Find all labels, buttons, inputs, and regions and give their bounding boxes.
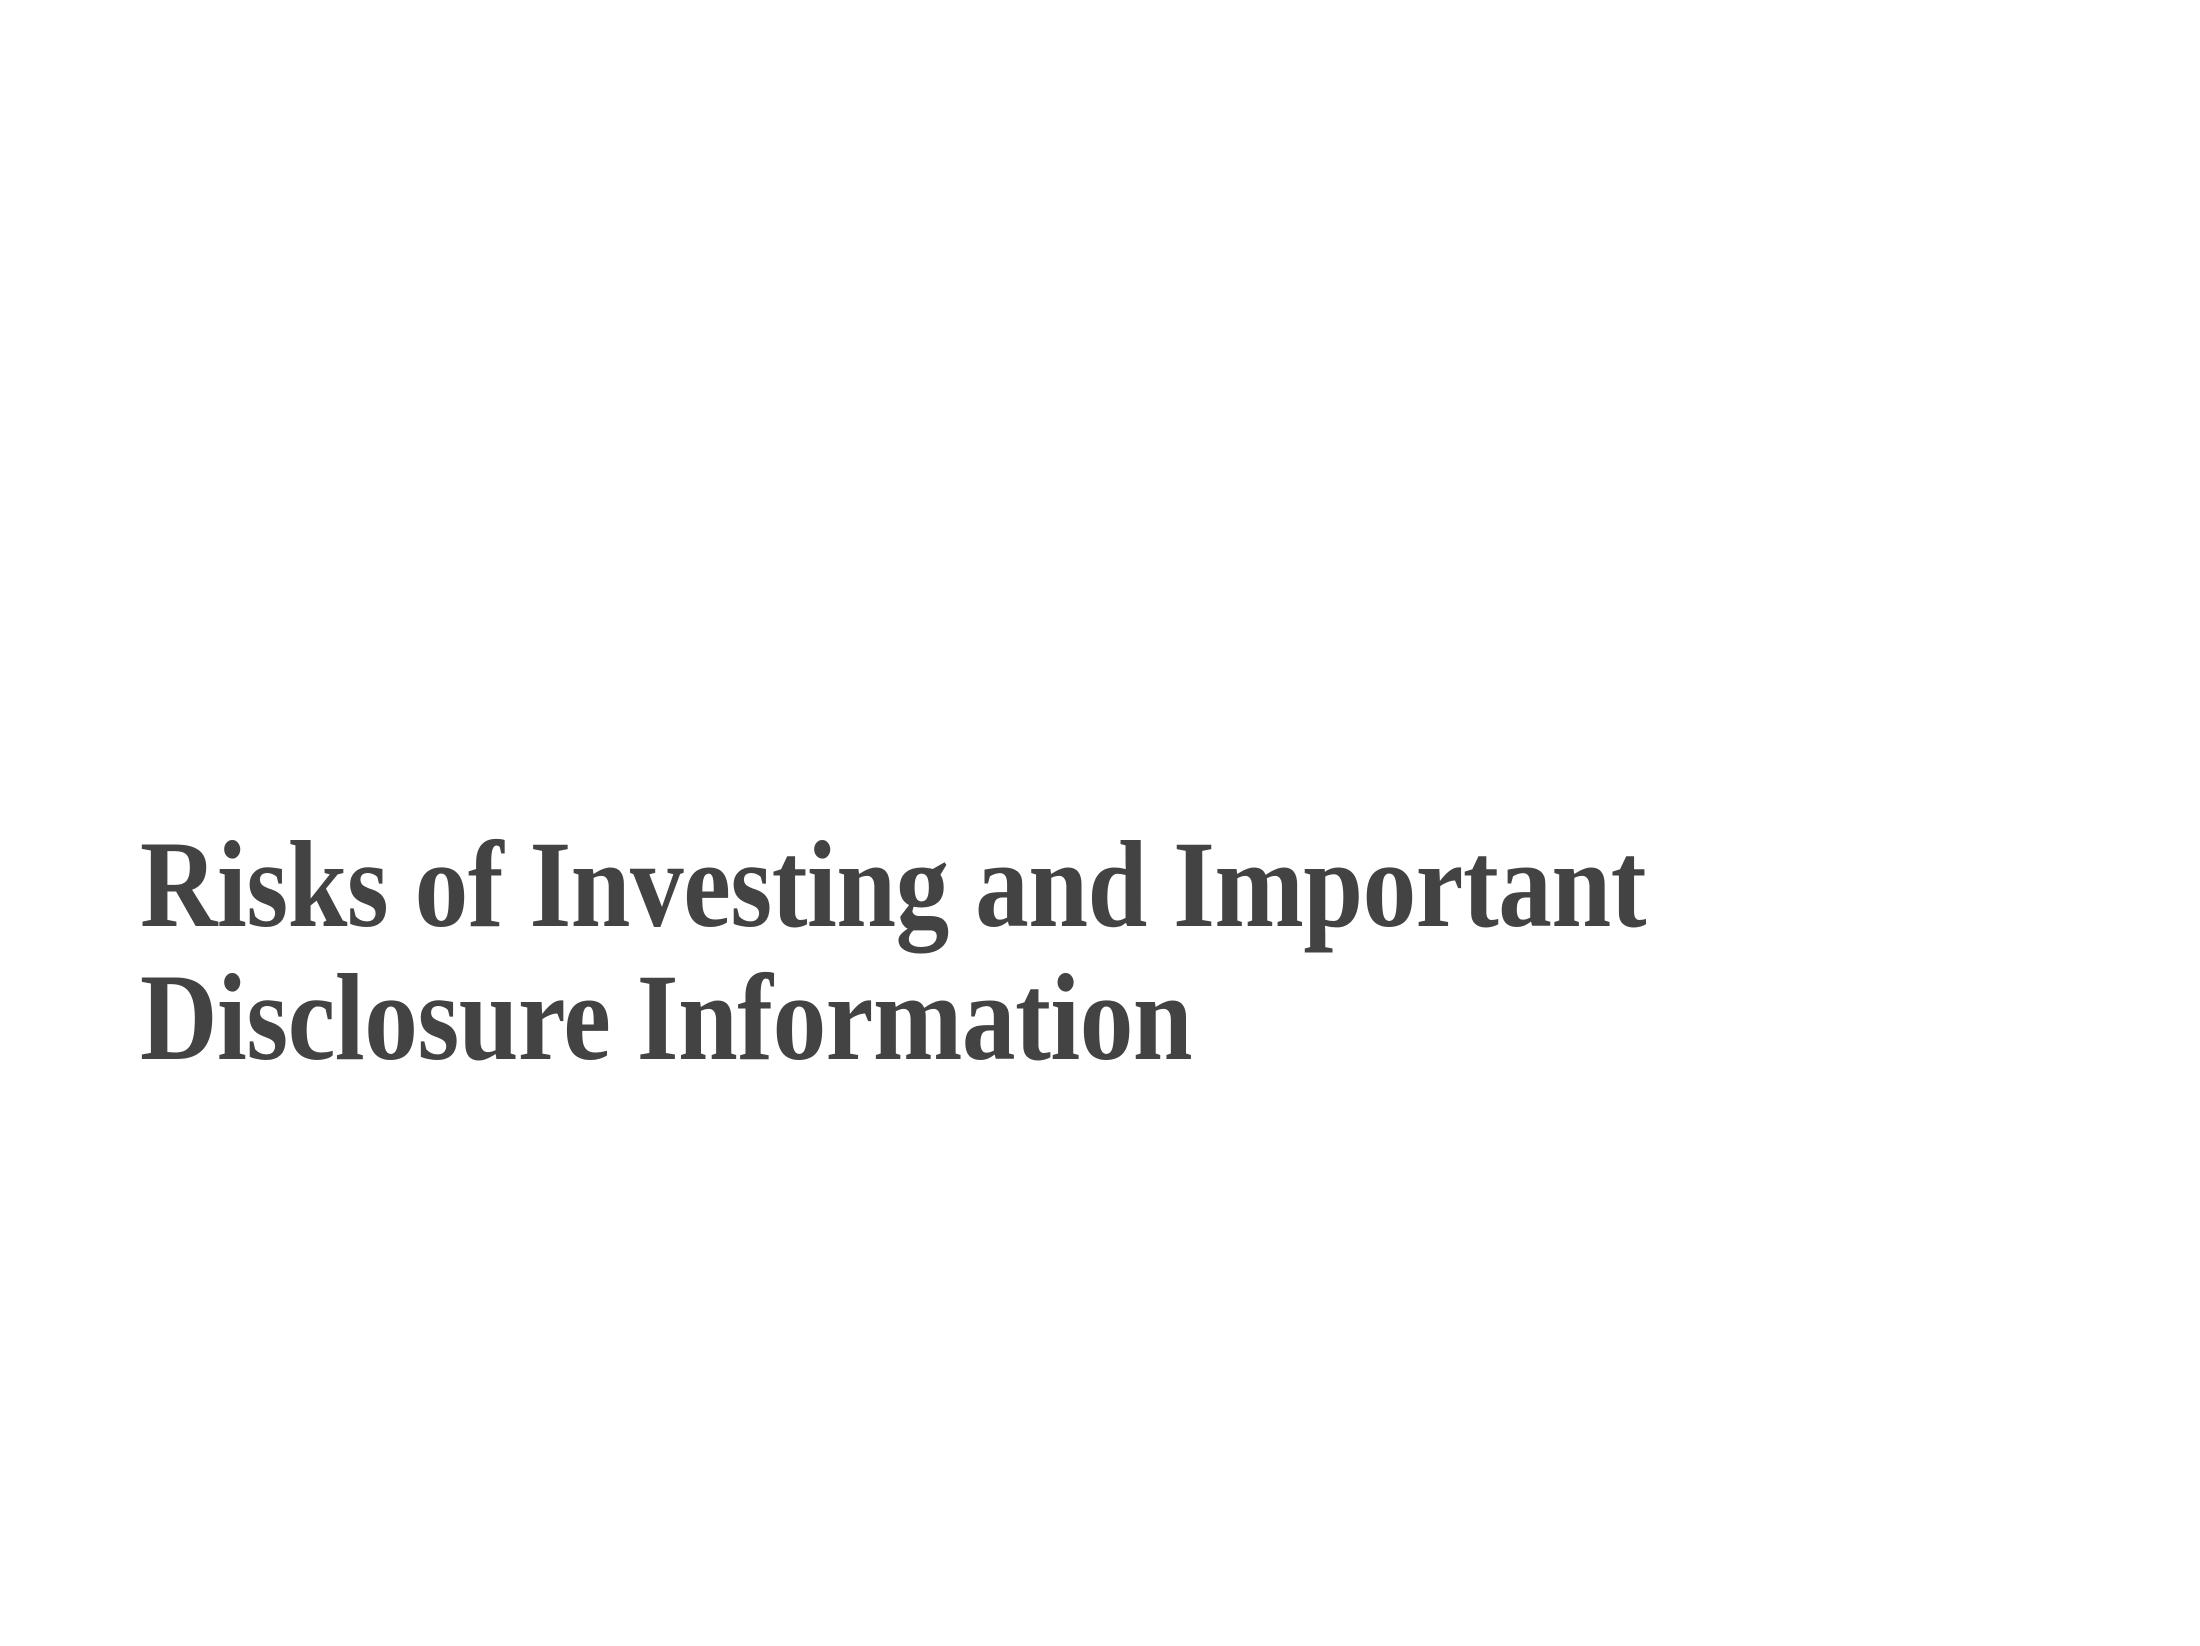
page-title: Risks of Investing and Important Disclos… <box>140 818 1784 1084</box>
presentation-slide: Risks of Investing and Important Disclos… <box>0 0 2200 1646</box>
slide-footer: MASTERW RKS THIS PRESENTATION IS BEING C… <box>0 1524 2200 1646</box>
title-block: Risks of Investing and Important Disclos… <box>140 818 2040 1084</box>
